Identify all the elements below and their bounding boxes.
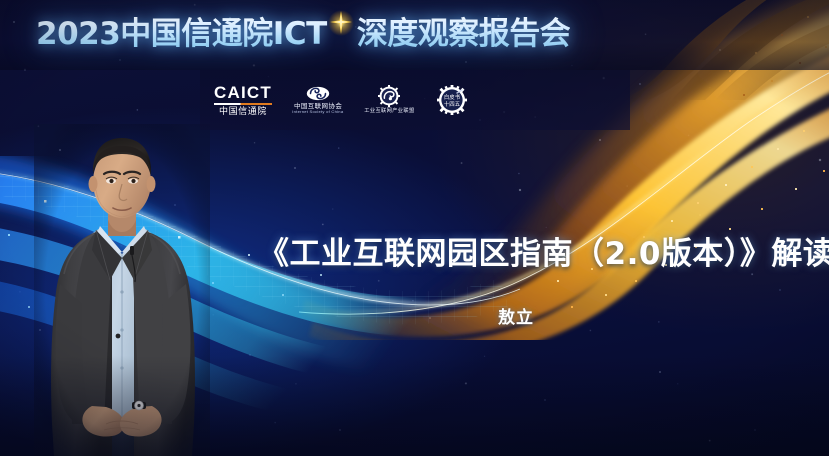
logo-caict: CAICT 中国信通院 [214, 84, 272, 116]
event-title: 2023中国信通院ICT深度观察报告会 [36, 8, 570, 53]
event-title-part2: 深度观察报告会 [357, 8, 571, 53]
event-header-band: 2023中国信通院ICT深度观察报告会 [0, 0, 829, 70]
caict-cn-name: 中国信通院 [219, 107, 267, 116]
presentation-slide: 2023中国信通院ICT深度观察报告会 CAICT 中国信通 [0, 0, 829, 456]
event-title-part1: 2023中国信通院ICT [36, 8, 327, 53]
caict-wordmark: CAICT [214, 84, 272, 101]
logo-internet-society-of-china: 中国互联网协会 Internet Society of China [294, 86, 342, 115]
svg-text:十四五: 十四五 [443, 100, 460, 108]
aii-cn-name: 工业互联网产业联盟 [364, 109, 414, 115]
gear-badge-icon: 白皮书 十四五 [437, 85, 467, 115]
aii-gear-icon [378, 85, 400, 107]
logo-gear-badge: 白皮书 十四五 [437, 85, 467, 115]
sponsor-logo-strip: CAICT 中国信通院 中国互联网协会 Internet Society of … [200, 70, 630, 130]
caict-rule [214, 103, 272, 105]
svg-text:白皮书: 白皮书 [443, 93, 460, 101]
isc-mark-icon [306, 86, 330, 101]
isc-en-name: Internet Society of China [293, 110, 344, 115]
presenter-photo [34, 124, 210, 456]
slide-main-title: 《工业互联网园区指南（2.0版本）》解读 [258, 228, 829, 273]
speaker-name: 敖立 [498, 303, 534, 328]
logo-aii: 工业互联网产业联盟 [364, 85, 414, 115]
